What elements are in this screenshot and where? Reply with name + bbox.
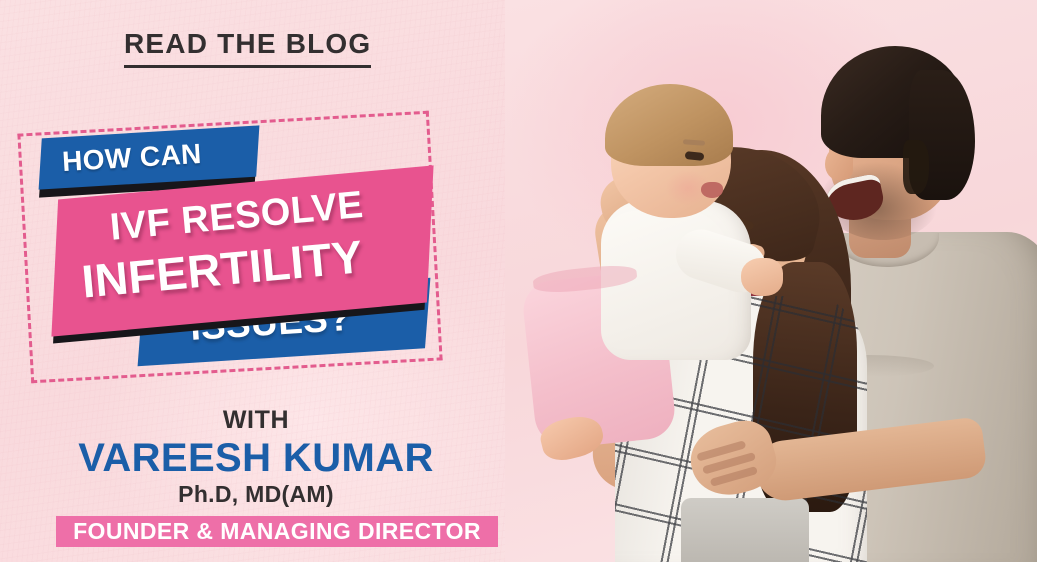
mother-skirt bbox=[681, 498, 809, 562]
speaker-name: VAREESH KUMAR bbox=[0, 436, 512, 481]
baby-mouth bbox=[701, 182, 723, 198]
speaker-role-ribbon: FOUNDER & MANAGING DIRECTOR bbox=[56, 516, 498, 547]
speaker-with-label: WITH bbox=[0, 406, 512, 435]
headline-line-1: HOW CAN bbox=[61, 138, 202, 178]
read-the-blog-label[interactable]: READ THE BLOG bbox=[124, 28, 371, 68]
blog-promo-banner: READ THE BLOG HOW CAN IVF RESOLVE INFERT… bbox=[0, 0, 1037, 562]
baby-hand bbox=[741, 258, 783, 296]
family-photo bbox=[505, 0, 1037, 562]
father-sideburn bbox=[903, 140, 929, 194]
speaker-credentials: Ph.D, MD(AM) bbox=[0, 481, 512, 508]
